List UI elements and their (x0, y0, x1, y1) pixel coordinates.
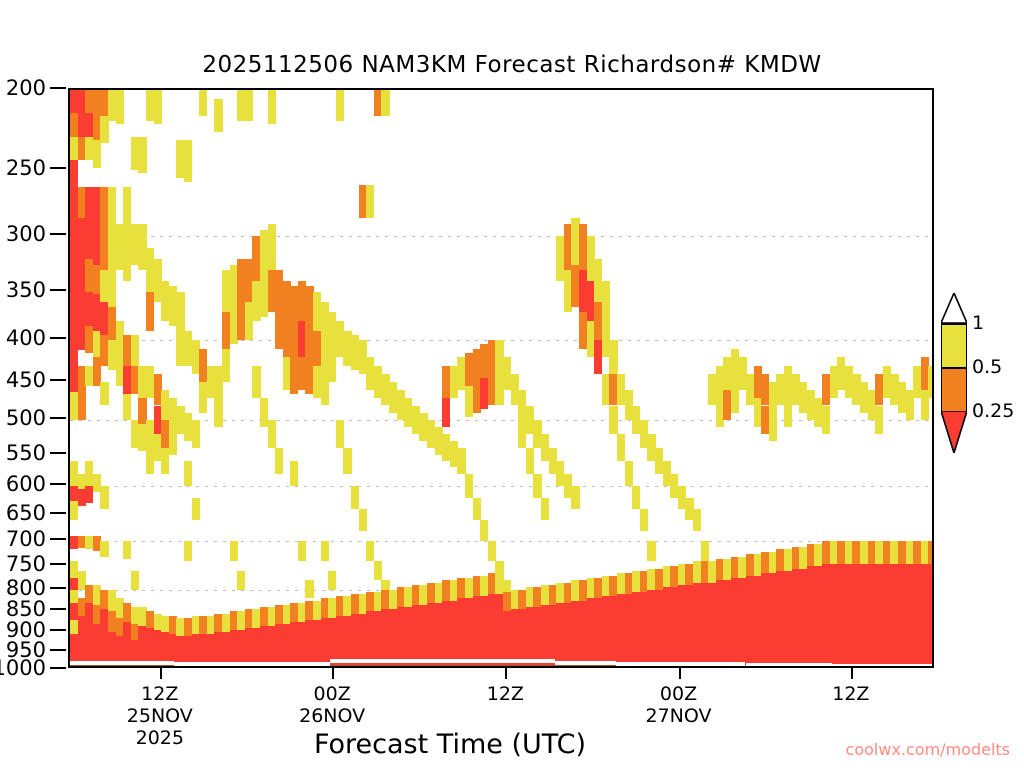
x-tick-label: 26NOV (299, 705, 365, 727)
x-tick-label: 12Z (487, 683, 524, 705)
colorbar-label: 1 (972, 312, 984, 334)
x-tick-mark (505, 668, 507, 679)
x-tick-label: 00Z (660, 683, 697, 705)
colorbar-label: 0.5 (972, 356, 1002, 378)
x-tick-label: 27NOV (646, 705, 712, 727)
colorbar-segment-yellow (941, 323, 967, 367)
colorbar-segment-orange (941, 367, 967, 411)
x-tick-mark (332, 668, 334, 679)
x-tick-label: 00Z (314, 683, 351, 705)
colorbar (941, 293, 967, 473)
credit-text: coolwx.com/modelts (846, 740, 1010, 759)
x-tick-label: 12Z (141, 683, 178, 705)
x-tick-label: 25NOV (127, 705, 193, 727)
colorbar-divider (941, 367, 967, 369)
colorbar-divider (941, 323, 967, 325)
x-tick-mark (851, 668, 853, 679)
x-tick-label: 12Z (832, 683, 869, 705)
x-axis-title: Forecast Time (UTC) (0, 729, 900, 760)
colorbar-cap-bottom-outline (941, 411, 967, 453)
x-axis: 12Z25NOV202500Z26NOV12Z00Z27NOV12Z (0, 0, 1024, 768)
x-tick-mark (679, 668, 681, 679)
chart-canvas: 2025112506 NAM3KM Forecast Richardson# K… (0, 0, 1024, 768)
x-tick-mark (160, 668, 162, 679)
colorbar-cap-top-outline (941, 293, 967, 323)
colorbar-label: 0.25 (972, 400, 1014, 422)
